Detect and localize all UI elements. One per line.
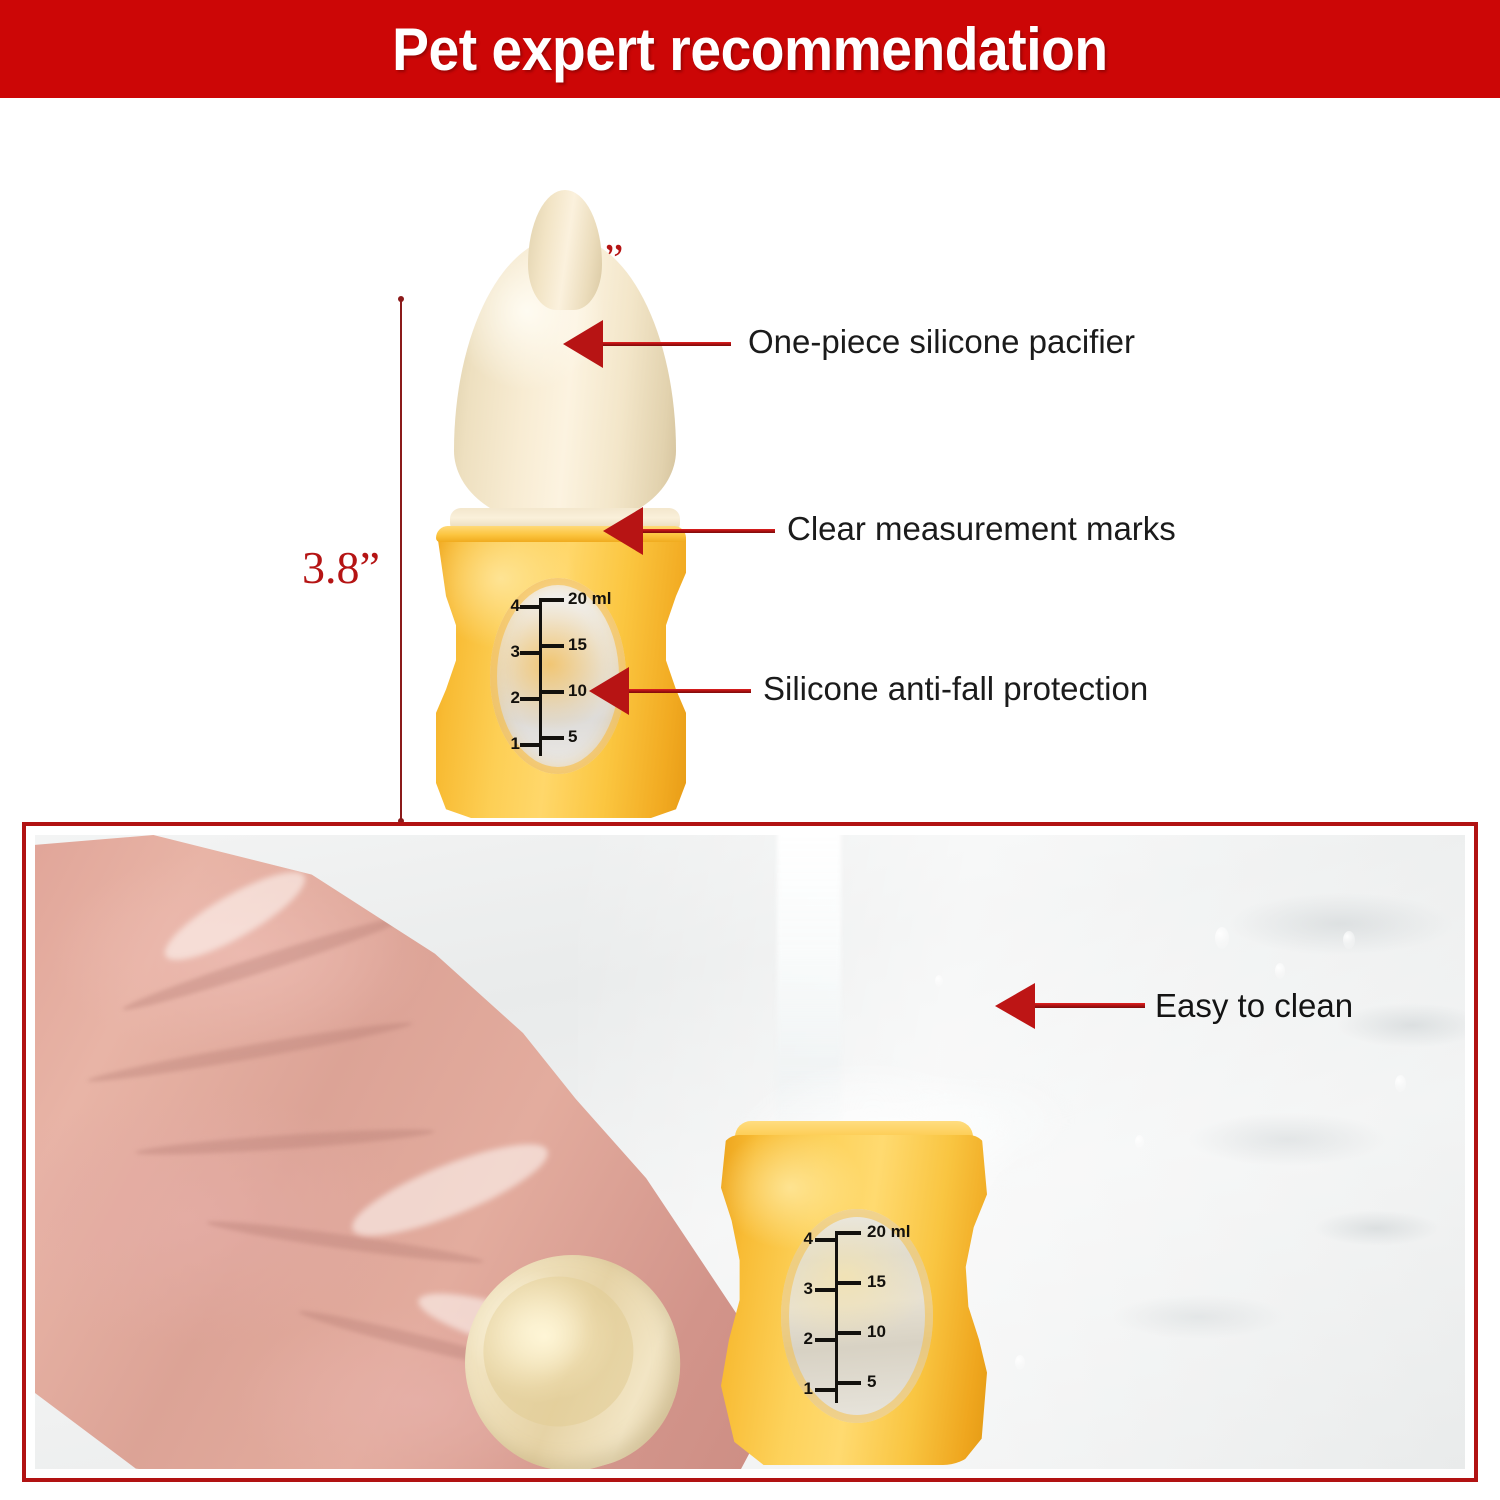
scale-label-left: 3	[500, 642, 520, 662]
product-illustration: 4 20 ml 3 15 2 10	[428, 196, 694, 822]
scale-tick-right	[835, 1331, 861, 1335]
scale-label-left: 4	[793, 1229, 813, 1249]
water-droplet	[1015, 1355, 1025, 1370]
scale-tick-left	[815, 1338, 837, 1342]
callout-arrow-head-pacifier	[563, 320, 603, 368]
header-banner: Pet expert recommendation	[0, 0, 1500, 98]
scale-tick-right	[539, 736, 564, 740]
scale-tick-right	[539, 598, 564, 602]
product-diagram-panel: 0.23” 3.8” 2” 4 20 ml 3	[0, 98, 1500, 812]
page-title: Pet expert recommendation	[392, 15, 1108, 84]
callout-label-measurement: Clear measurement marks	[787, 510, 1176, 548]
scale-label-right: 10	[867, 1322, 886, 1342]
bottle-body: 4 20 ml 3 15 2 1	[721, 1135, 987, 1465]
scale-label-left: 3	[793, 1279, 813, 1299]
scale-tick-right	[835, 1281, 861, 1285]
callout-arrow-line-easy-clean	[1035, 1003, 1145, 1008]
dimension-label-height: 3.8”	[302, 541, 380, 594]
callout-label-antifall: Silicone anti-fall protection	[763, 670, 1148, 708]
scale-label-right: 20 ml	[568, 589, 611, 609]
scale-tick-left	[520, 651, 542, 655]
scale-label-left: 2	[793, 1329, 813, 1349]
callout-arrow-head-easy-clean	[995, 983, 1035, 1029]
photo-frame: 4 20 ml 3 15 2 1	[22, 822, 1478, 1482]
water-droplet	[1343, 931, 1355, 949]
scale-tick-right	[835, 1231, 861, 1235]
scale-label-left: 1	[793, 1379, 813, 1399]
hand-crease	[135, 1125, 435, 1160]
scale-row: 4 20 ml	[490, 592, 626, 606]
callout-label-easy-clean: Easy to clean	[1155, 987, 1353, 1025]
scale-row: 1 5	[781, 1375, 917, 1389]
hand-wet-sheen	[343, 1127, 556, 1252]
water-droplet	[935, 975, 943, 987]
scale-label-right: 10	[568, 681, 587, 701]
measurement-scale-photo: 4 20 ml 3 15 2 1	[781, 1209, 933, 1423]
scale-label-left: 2	[500, 688, 520, 708]
pacifier-dome	[454, 236, 676, 526]
scale-label-left: 4	[500, 596, 520, 616]
scale-row: 4 20 ml	[781, 1225, 917, 1239]
cleaning-photo: 4 20 ml 3 15 2 1	[35, 835, 1465, 1469]
scale-label-left: 1	[500, 734, 520, 754]
callout-arrow-line-measurement	[643, 529, 775, 533]
callout-arrow-line-pacifier	[603, 342, 731, 346]
scale-row: 3 15	[781, 1275, 917, 1289]
hand-crease	[120, 909, 410, 1017]
scale-label-right: 5	[867, 1372, 876, 1392]
callout-arrow-line-antifall	[629, 689, 751, 693]
scale-tick-left	[815, 1288, 837, 1292]
scale-tick-right	[835, 1381, 861, 1385]
scale-row: 1 5	[490, 730, 626, 744]
hand-crease	[86, 1016, 413, 1087]
callout-label-pacifier: One-piece silicone pacifier	[748, 323, 1135, 361]
water-droplet	[1215, 927, 1229, 949]
dimension-line-height	[400, 298, 402, 822]
measurement-window-photo: 4 20 ml 3 15 2 1	[781, 1209, 933, 1423]
scale-tick-left	[815, 1238, 837, 1242]
dimension-dot-height-top	[398, 296, 404, 302]
scale-row: 3 15	[490, 638, 626, 652]
scale-tick-right	[539, 644, 564, 648]
water-droplet	[1395, 1075, 1406, 1092]
callout-arrow-head-measurement	[603, 507, 643, 555]
scale-tick-left	[520, 605, 542, 609]
scale-tick-left	[815, 1388, 837, 1392]
scale-label-right: 15	[867, 1272, 886, 1292]
scale-tick-left	[520, 697, 542, 701]
scale-tick-right	[539, 690, 564, 694]
scale-label-right: 15	[568, 635, 587, 655]
water-droplet	[1275, 963, 1285, 979]
scale-label-right: 20 ml	[867, 1222, 910, 1242]
hand-crease	[205, 1216, 484, 1269]
scale-label-right: 5	[568, 727, 577, 747]
water-droplet	[1135, 1135, 1144, 1149]
scale-tick-left	[520, 743, 542, 747]
callout-arrow-head-antifall	[589, 667, 629, 715]
scale-row: 2 10	[781, 1325, 917, 1339]
